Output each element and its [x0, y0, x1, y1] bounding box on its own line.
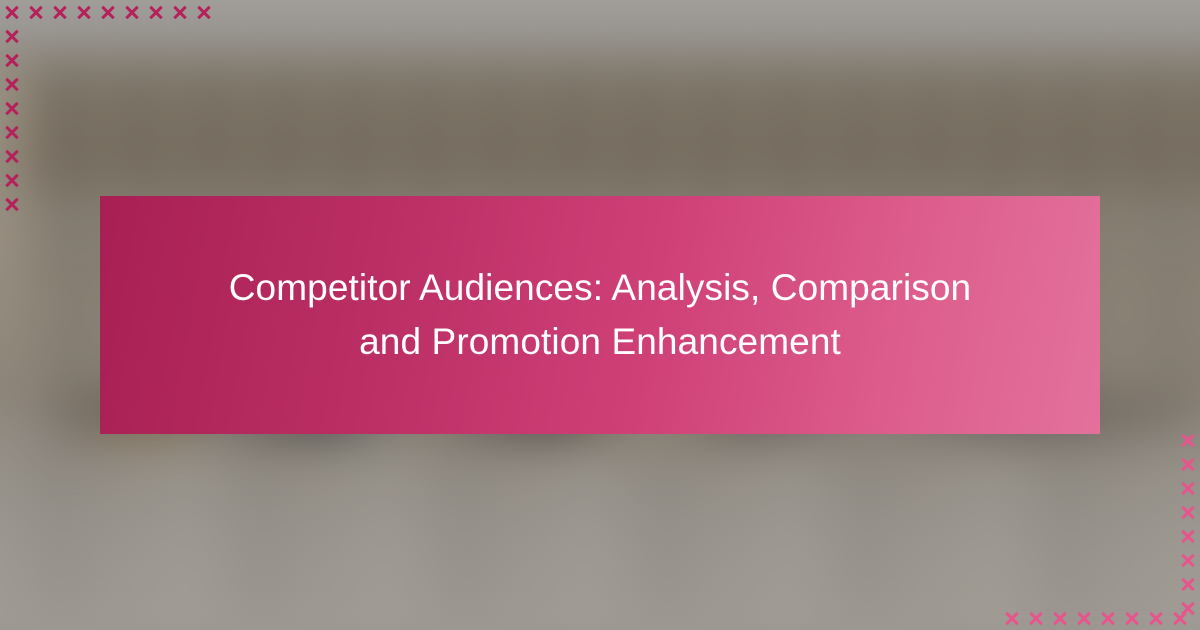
page-title: Competitor Audiences: Analysis, Comparis…: [215, 261, 985, 370]
title-banner: Competitor Audiences: Analysis, Comparis…: [100, 196, 1100, 434]
banner-canvas: Competitor Audiences: Analysis, Comparis…: [0, 0, 1200, 630]
